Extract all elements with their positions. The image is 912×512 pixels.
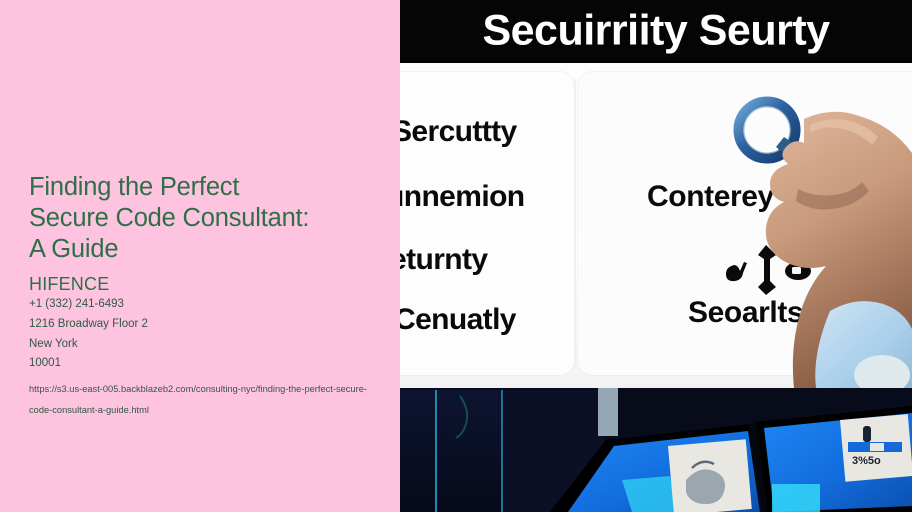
whiteboard-area: Sercuttty unnemion eturnty Cenuatly Cont… [400, 63, 912, 388]
left-info-panel: Finding the Perfect Secure Code Consulta… [0, 0, 400, 512]
screen-card-graphic-2: 3%5o [840, 414, 912, 482]
card-divider [574, 79, 576, 369]
image-header-title: Secuirriity Seurty [482, 6, 829, 55]
left-card-line-3: eturnty [400, 243, 487, 277]
page-root: Finding the Perfect Secure Code Consulta… [0, 0, 912, 512]
image-header-band: Secuirriity Seurty [400, 0, 912, 63]
left-card-line-4: Cenuatly [400, 303, 516, 337]
monitor-wall-image: 3%5o [400, 388, 912, 512]
brand-name: HIFENCE [29, 274, 397, 295]
left-content-block: Finding the Perfect Secure Code Consulta… [29, 172, 397, 421]
contact-address-zip: 10001 [29, 354, 397, 374]
right-card-word-bottom: Seoarlts [688, 296, 803, 330]
screen-card-graphic-1 [668, 439, 752, 512]
source-url: https://s3.us-east-005.backblazeb2.com/c… [29, 379, 369, 421]
contact-phone: +1 (332) 241-6493 [29, 295, 397, 315]
abstract-glyph-icon [718, 243, 818, 297]
left-card-line-1: Sercuttty [400, 115, 517, 149]
page-title: Finding the Perfect Secure Code Consulta… [29, 172, 397, 265]
svg-text:3%5o: 3%5o [852, 455, 881, 467]
right-card-word-top: Conterey [647, 180, 774, 214]
left-card-line-2: unnemion [400, 180, 525, 214]
contact-address-street: 1216 Broadway Floor 2 [29, 315, 397, 335]
article-hero-image: Secuirriity Seurty Sercuttty unnemion et… [400, 0, 912, 512]
contact-address-city: New York [29, 335, 397, 355]
